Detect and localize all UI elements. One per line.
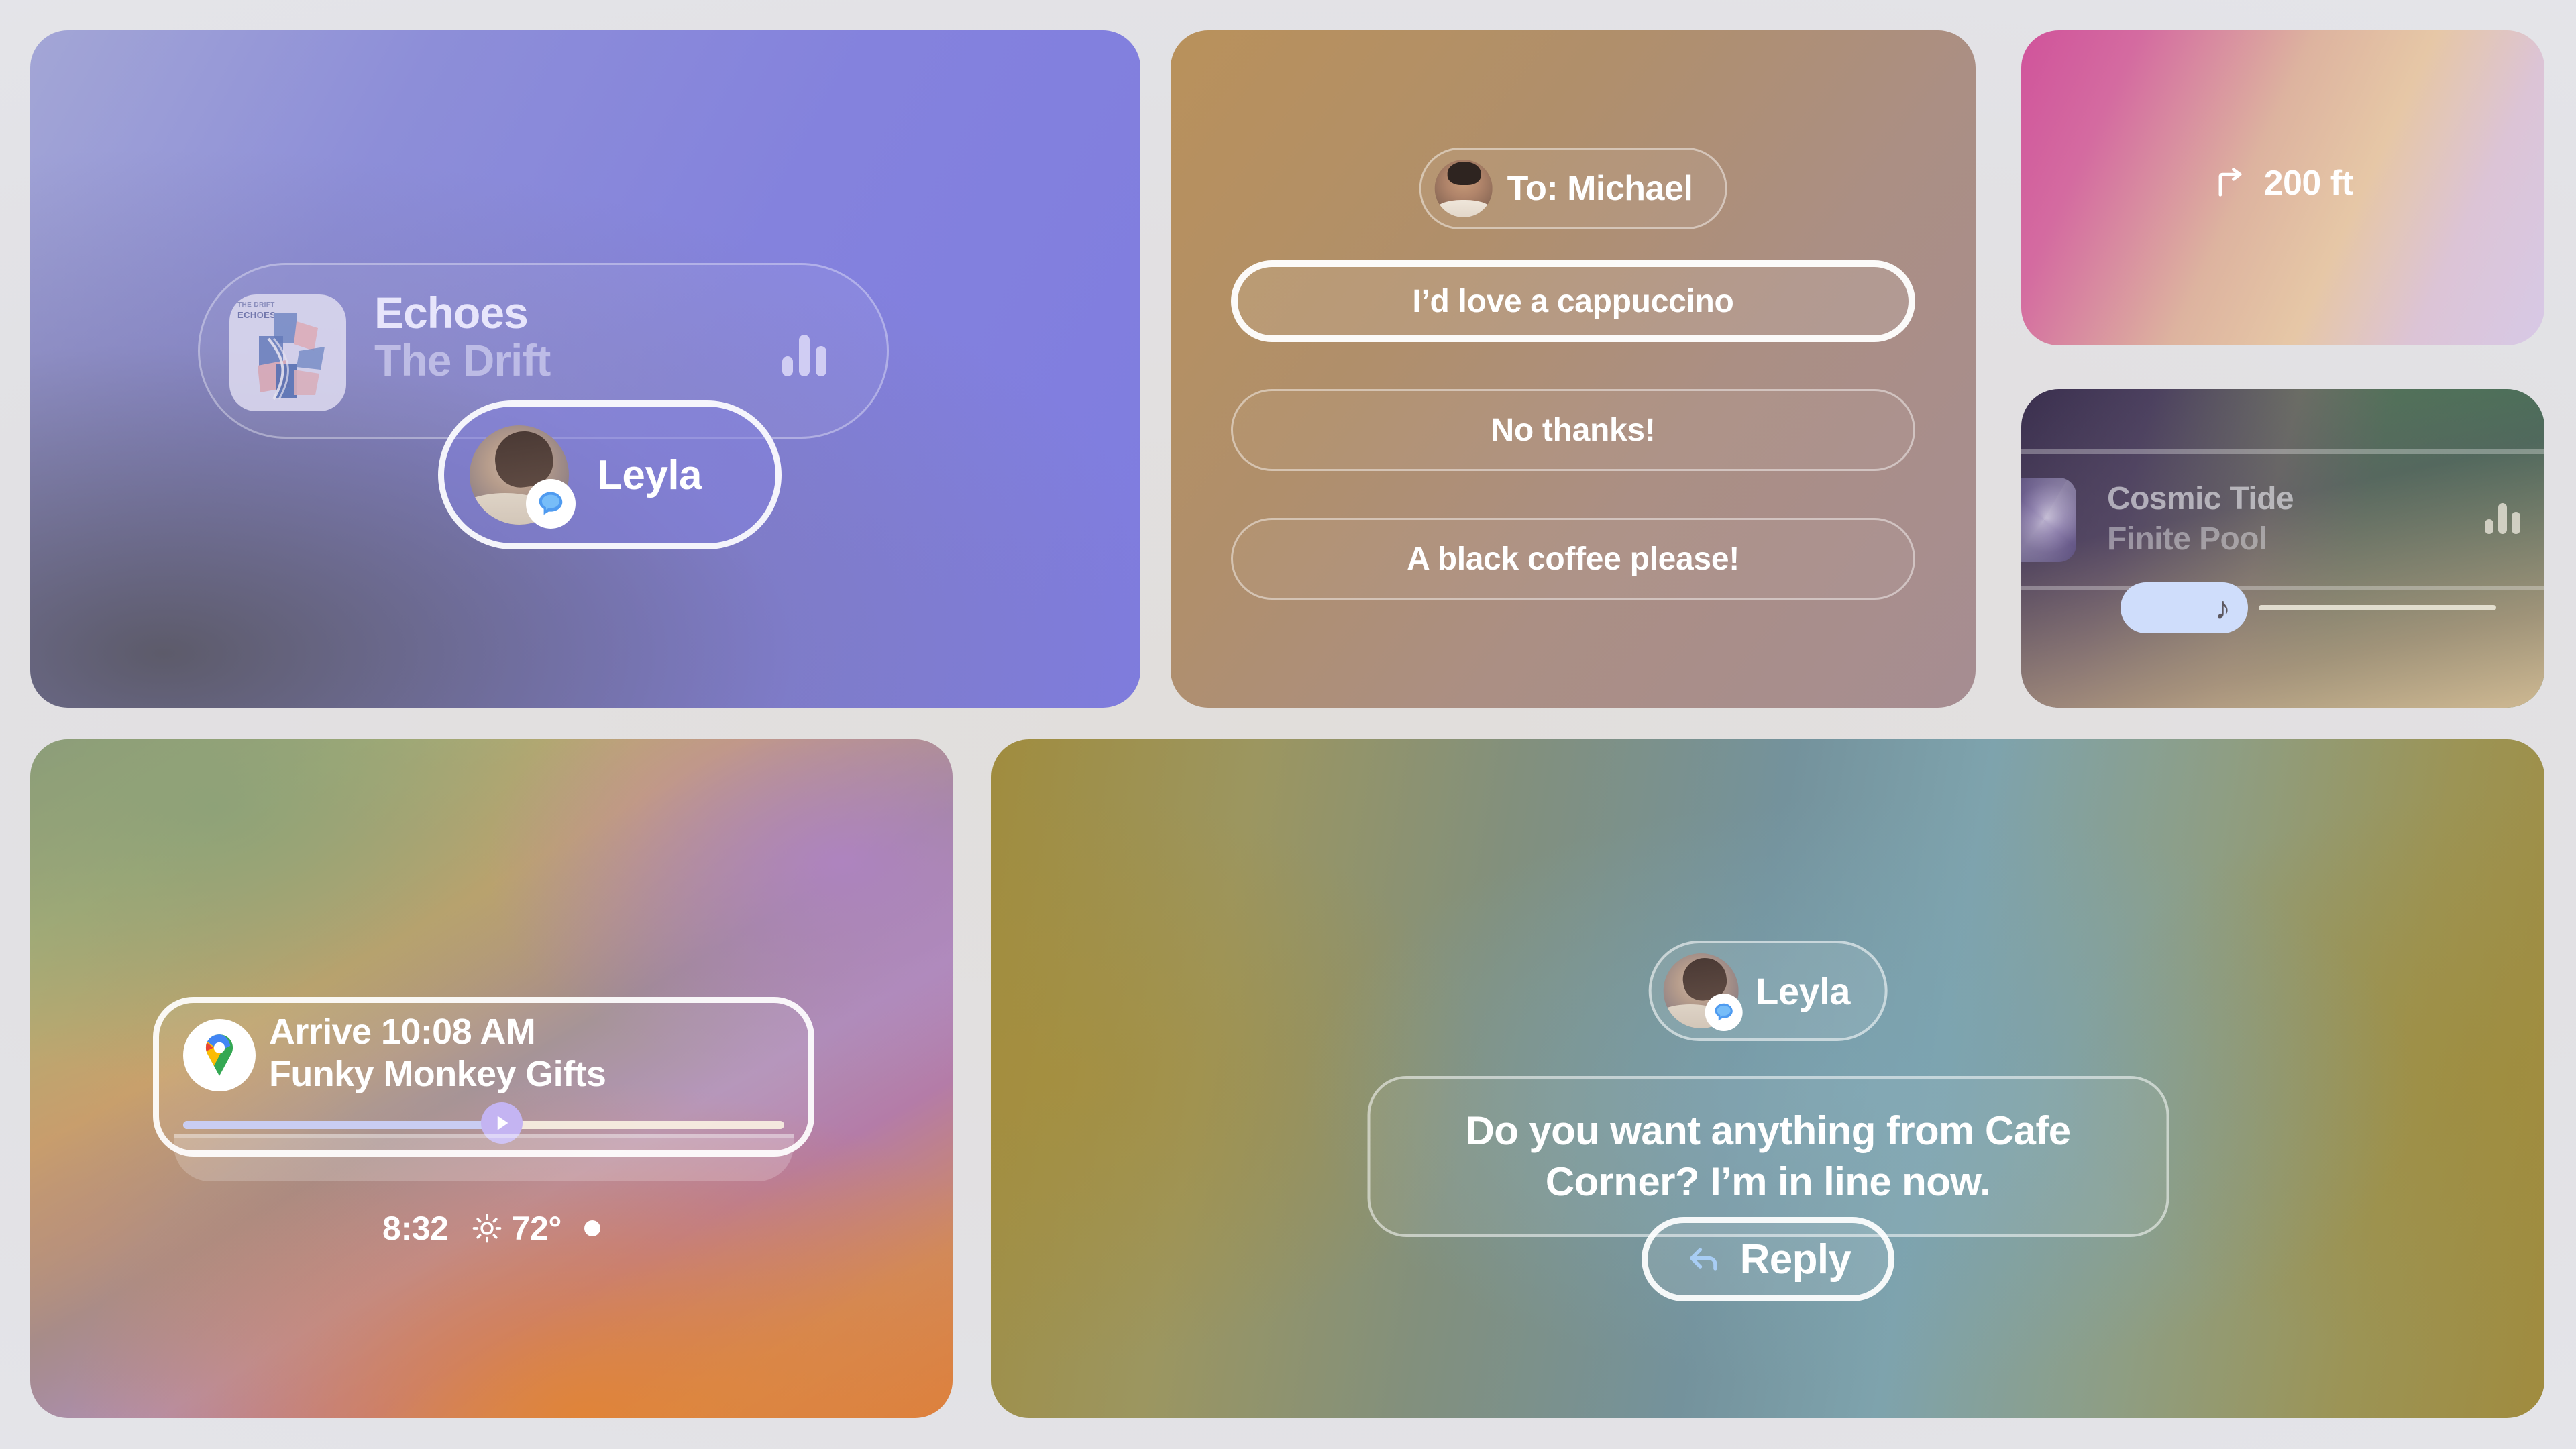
recipient-pill[interactable]: To: Michael: [1419, 148, 1727, 229]
navigation-instruction: 200 ft: [2021, 163, 2544, 203]
messages-bubble-icon: [526, 479, 576, 529]
turn-right-icon: [2213, 166, 2248, 201]
status-temperature: 72°: [512, 1209, 561, 1248]
navigation-surface: 200 ft: [2021, 30, 2544, 345]
widget-dashboard: THE DRIFT ECHOES: [0, 0, 2576, 1449]
navigation-distance: 200 ft: [2264, 163, 2353, 203]
sun-icon: [472, 1213, 502, 1244]
trip-progress-slider[interactable]: [183, 1118, 784, 1129]
contact-name: Leyla: [597, 451, 702, 499]
cosmic-tide-surface: Cosmic Tide Finite Pool ♪: [2021, 389, 2544, 708]
now-playing-card-surface: THE DRIFT ECHOES: [30, 30, 1140, 708]
status-row: 8:32 72°: [30, 1209, 953, 1248]
album-art: THE DRIFT ECHOES: [229, 294, 346, 411]
cosmic-tide-card[interactable]: Cosmic Tide Finite Pool ♪: [2021, 389, 2544, 708]
message-sender-name: Leyla: [1756, 969, 1850, 1013]
google-maps-pin-icon: [183, 1019, 256, 1091]
weather-group: 72°: [472, 1209, 561, 1248]
avatar-michael: [1435, 160, 1493, 217]
panel-stack-shadow: [174, 1134, 794, 1181]
reply-arrow-icon: [1685, 1240, 1723, 1278]
maps-eta-time: Arrive 10:08 AM: [269, 1011, 606, 1053]
smart-replies-surface: To: Michael I’d love a cappuccino No tha…: [1171, 30, 1976, 708]
trip-progress-fill: [183, 1121, 502, 1129]
tide-slider-track[interactable]: [2259, 605, 2496, 610]
navigation-arrow-icon: [492, 1113, 512, 1133]
contact-pill-leyla[interactable]: Leyla: [438, 400, 782, 549]
tide-track-title: Cosmic Tide: [2107, 480, 2294, 517]
tide-track-artist: Finite Pool: [2107, 521, 2267, 557]
smart-replies-card[interactable]: To: Michael I’d love a cappuccino No tha…: [1171, 30, 1976, 708]
smart-reply-option-2[interactable]: No thanks!: [1231, 389, 1915, 471]
album-art-cosmic-tide: [2021, 478, 2076, 562]
avatar: [1663, 953, 1738, 1028]
album-art-graphic: [229, 294, 346, 411]
recipient-label: To: Michael: [1507, 168, 1693, 209]
status-time: 8:32: [382, 1209, 448, 1248]
smart-reply-option-3[interactable]: A black coffee please!: [1231, 518, 1915, 600]
status-dot: [584, 1220, 600, 1236]
message-sender-pill[interactable]: Leyla: [1648, 941, 1888, 1041]
now-playing-text: Echoes The Drift: [374, 289, 550, 385]
track-title: Echoes: [374, 289, 550, 337]
reply-button-label: Reply: [1740, 1236, 1851, 1283]
cosmic-tide-gradient-overlay: [2021, 389, 2544, 708]
reply-button[interactable]: Reply: [1642, 1217, 1895, 1301]
track-artist: The Drift: [374, 337, 550, 384]
navigation-card[interactable]: 200 ft: [2021, 30, 2544, 345]
equalizer-bars-icon: [782, 335, 826, 376]
music-note-icon: ♪: [2215, 592, 2231, 623]
message-surface: Leyla Do you want anything from Cafe Cor…: [991, 739, 2544, 1418]
message-bubble[interactable]: Do you want anything from Cafe Corner? I…: [1367, 1076, 2169, 1237]
avatar: [470, 425, 569, 525]
maps-eta-text: Arrive 10:08 AM Funky Monkey Gifts: [269, 1011, 606, 1095]
tide-progress-slider[interactable]: ♪: [2121, 582, 2496, 633]
smart-reply-option-1[interactable]: I’d love a cappuccino: [1231, 260, 1915, 342]
now-playing-card[interactable]: THE DRIFT ECHOES: [30, 30, 1140, 708]
divider-top: [2021, 449, 2544, 454]
message-body: Do you want anything from Cafe Corner? I…: [1370, 1106, 2166, 1207]
messages-bubble-icon: [1705, 994, 1742, 1031]
message-card[interactable]: Leyla Do you want anything from Cafe Cor…: [991, 739, 2544, 1418]
maps-navigation-card[interactable]: Arrive 10:08 AM Funky Monkey Gifts 8:32: [30, 739, 953, 1418]
maps-surface: Arrive 10:08 AM Funky Monkey Gifts 8:32: [30, 739, 953, 1418]
maps-destination: Funky Monkey Gifts: [269, 1053, 606, 1095]
tide-slider-thumb[interactable]: ♪: [2121, 582, 2248, 633]
maps-eta-panel[interactable]: Arrive 10:08 AM Funky Monkey Gifts: [153, 997, 814, 1157]
equalizer-bars-icon: [2485, 503, 2520, 534]
